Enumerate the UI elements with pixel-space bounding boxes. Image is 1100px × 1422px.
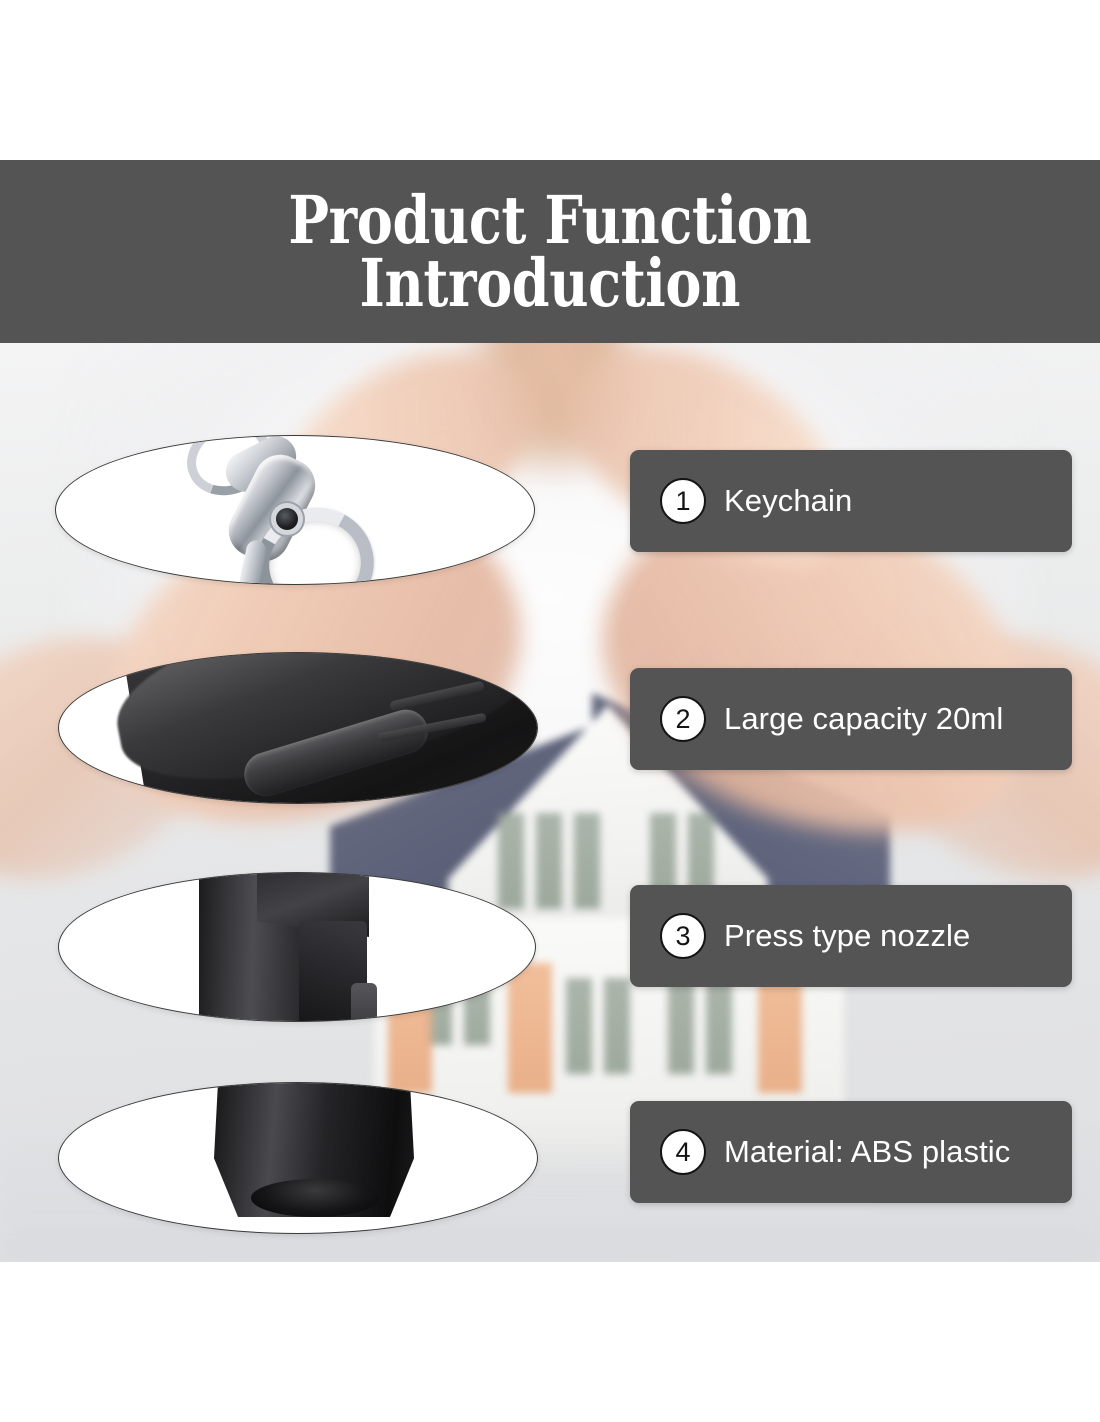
feature-number-badge-3: 3 xyxy=(660,913,706,959)
page-title: Product Function Introduction xyxy=(289,189,812,313)
feature-pill-3[interactable]: 3 Press type nozzle xyxy=(630,885,1072,987)
feature-pill-1[interactable]: 1 Keychain xyxy=(630,450,1072,552)
feature-pill-4[interactable]: 4 Material: ABS plastic xyxy=(630,1101,1072,1203)
feature-number-badge-4: 4 xyxy=(660,1129,706,1175)
feature-label-3: Press type nozzle xyxy=(724,918,970,954)
detail-oval-capacity xyxy=(58,652,538,804)
bottom-margin xyxy=(0,1262,1100,1422)
feature-number-badge-1: 1 xyxy=(660,478,706,524)
bottle-base-photo xyxy=(59,1083,537,1233)
house-window xyxy=(574,813,600,909)
feature-label-2: Large capacity 20ml xyxy=(724,701,1003,737)
keychain-photo xyxy=(56,436,534,584)
house-window xyxy=(566,978,592,1074)
nozzle-post xyxy=(351,983,377,1022)
house-window xyxy=(668,978,694,1074)
header-banner: Product Function Introduction xyxy=(0,160,1100,343)
feature-number-badge-2: 2 xyxy=(660,696,706,742)
house-window xyxy=(706,978,732,1074)
feature-pill-2[interactable]: 2 Large capacity 20ml xyxy=(630,668,1072,770)
feature-label-4: Material: ABS plastic xyxy=(724,1134,1010,1170)
top-margin xyxy=(0,0,1100,160)
feature-label-1: Keychain xyxy=(724,483,852,519)
house-window xyxy=(604,978,630,1074)
bottle-foot xyxy=(251,1179,379,1217)
detail-oval-material xyxy=(58,1082,538,1234)
house-window xyxy=(536,813,562,909)
detail-oval-nozzle xyxy=(58,872,536,1022)
keychain-rivet xyxy=(276,508,298,530)
nozzle-photo xyxy=(59,873,535,1021)
bottle-body-photo xyxy=(59,653,537,803)
infographic-page: Product Function Introduction xyxy=(0,0,1100,1422)
detail-oval-keychain xyxy=(55,435,535,585)
product-scene: 1 Keychain 2 Large capacity 20ml 3 Press… xyxy=(0,343,1100,1262)
